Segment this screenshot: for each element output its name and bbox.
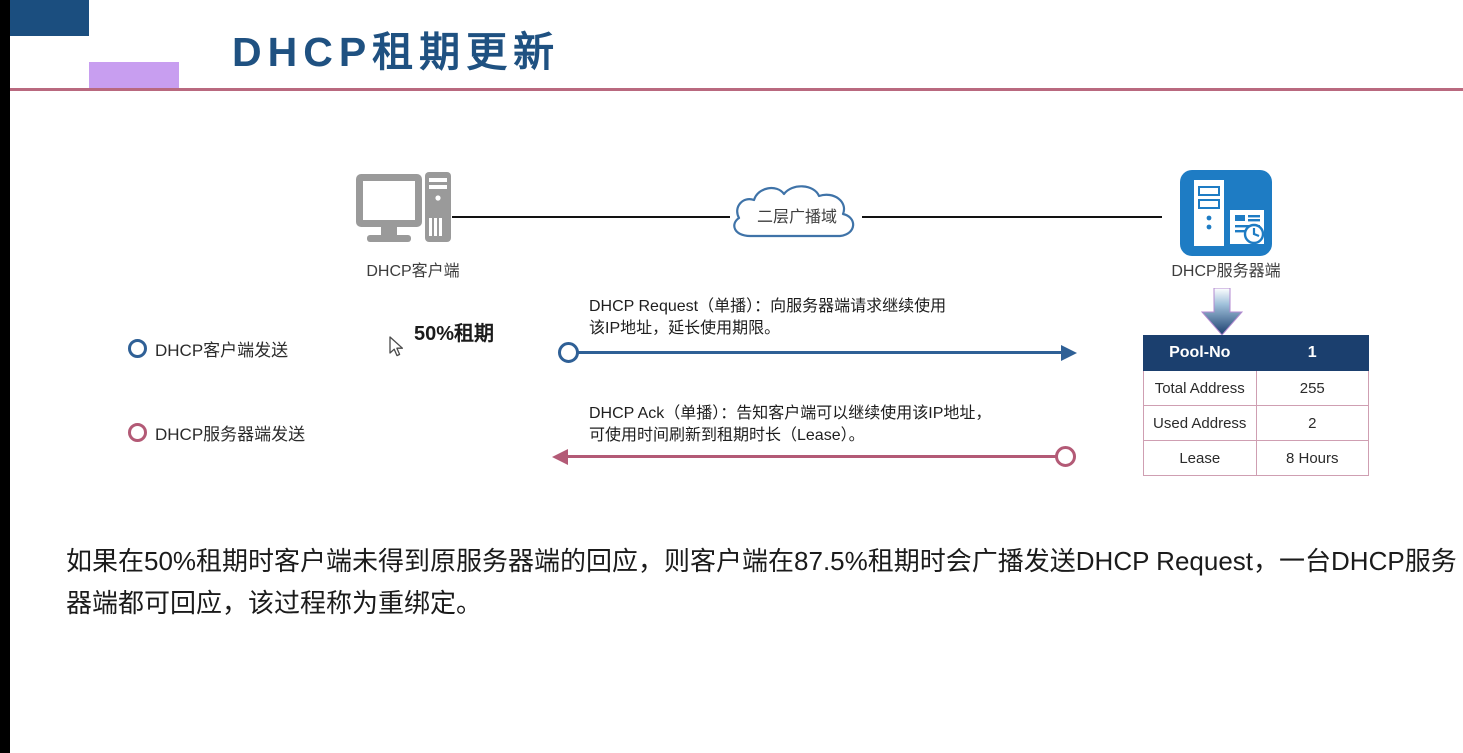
header-blue-block: [10, 0, 89, 36]
table-header-row: Pool-No 1: [1144, 336, 1369, 371]
legend-item-server: DHCP服务器端发送: [128, 420, 305, 445]
lease-percent-marker: 50%租期: [414, 317, 494, 346]
left-gutter-strip: [0, 0, 10, 753]
address-pool-table: Pool-No 1 Total Address 255 Used Address…: [1143, 335, 1369, 476]
page-title: DHCP租期更新: [232, 18, 560, 78]
table-row: Lease 8 Hours: [1144, 441, 1369, 476]
table-cell-key: Used Address: [1144, 406, 1257, 441]
link-cloud-to-server: [862, 216, 1162, 218]
table-row: Total Address 255: [1144, 371, 1369, 406]
arrow-dhcp-request: [558, 342, 1080, 364]
message-text-dhcp-request: DHCP Request（单播）：向服务器端请求继续使用 该IP地址，延长使用期…: [589, 296, 946, 340]
legend-item-client: DHCP客户端发送: [128, 336, 288, 361]
table-cell-value: 8 Hours: [1256, 441, 1369, 476]
desktop-pc-icon: [355, 172, 455, 250]
header-divider-rule: [10, 88, 1463, 91]
client-label: DHCP客户端: [348, 257, 478, 281]
arrow-start-ring-icon-ack: [1055, 446, 1076, 467]
header-purple-block: [89, 62, 179, 89]
table-cell-value: 2: [1256, 406, 1369, 441]
arrowhead-icon-ack: [552, 449, 568, 465]
dhcp-server-icon: [1180, 170, 1272, 256]
server-label: DHCP服务器端: [1160, 257, 1292, 281]
message-text-dhcp-ack: DHCP Ack（单播）：告知客户端可以继续使用该IP地址， 可使用时间刷新到租…: [589, 403, 991, 447]
down-arrow-icon: [1196, 288, 1248, 336]
legend-label-server: DHCP服务器端发送: [155, 420, 305, 445]
slide-canvas: DHCP租期更新 DHCP客户端 二层广播域: [0, 0, 1463, 753]
table-cell-key: Total Address: [1144, 371, 1257, 406]
body-paragraph: 如果在50%租期时客户端未得到原服务器端的回应，则客户端在87.5%租期时会广播…: [66, 540, 1463, 624]
table-cell-key: Lease: [1144, 441, 1257, 476]
arrow-shaft-request: [578, 351, 1063, 354]
mouse-cursor-icon: [389, 336, 405, 358]
table-header-pool-no: Pool-No: [1144, 336, 1257, 371]
table-header-pool-value: 1: [1256, 336, 1369, 371]
link-client-to-cloud: [452, 216, 730, 218]
body-paragraph-line-1: 如果在50%租期时客户端未得到原服务器端的回应，则客户端在87.5%租期时会广播…: [66, 546, 1279, 576]
arrow-start-ring-icon-request: [558, 342, 579, 363]
legend-ring-icon-pink: [128, 423, 147, 442]
legend-ring-icon-blue: [128, 339, 147, 358]
arrow-shaft-ack: [566, 455, 1056, 458]
legend-label-client: DHCP客户端发送: [155, 336, 288, 361]
table-cell-value: 255: [1256, 371, 1369, 406]
cloud-label: 二层广播域: [726, 203, 868, 227]
arrowhead-icon-request: [1061, 345, 1077, 361]
table-row: Used Address 2: [1144, 406, 1369, 441]
arrow-dhcp-ack: [552, 446, 1076, 468]
